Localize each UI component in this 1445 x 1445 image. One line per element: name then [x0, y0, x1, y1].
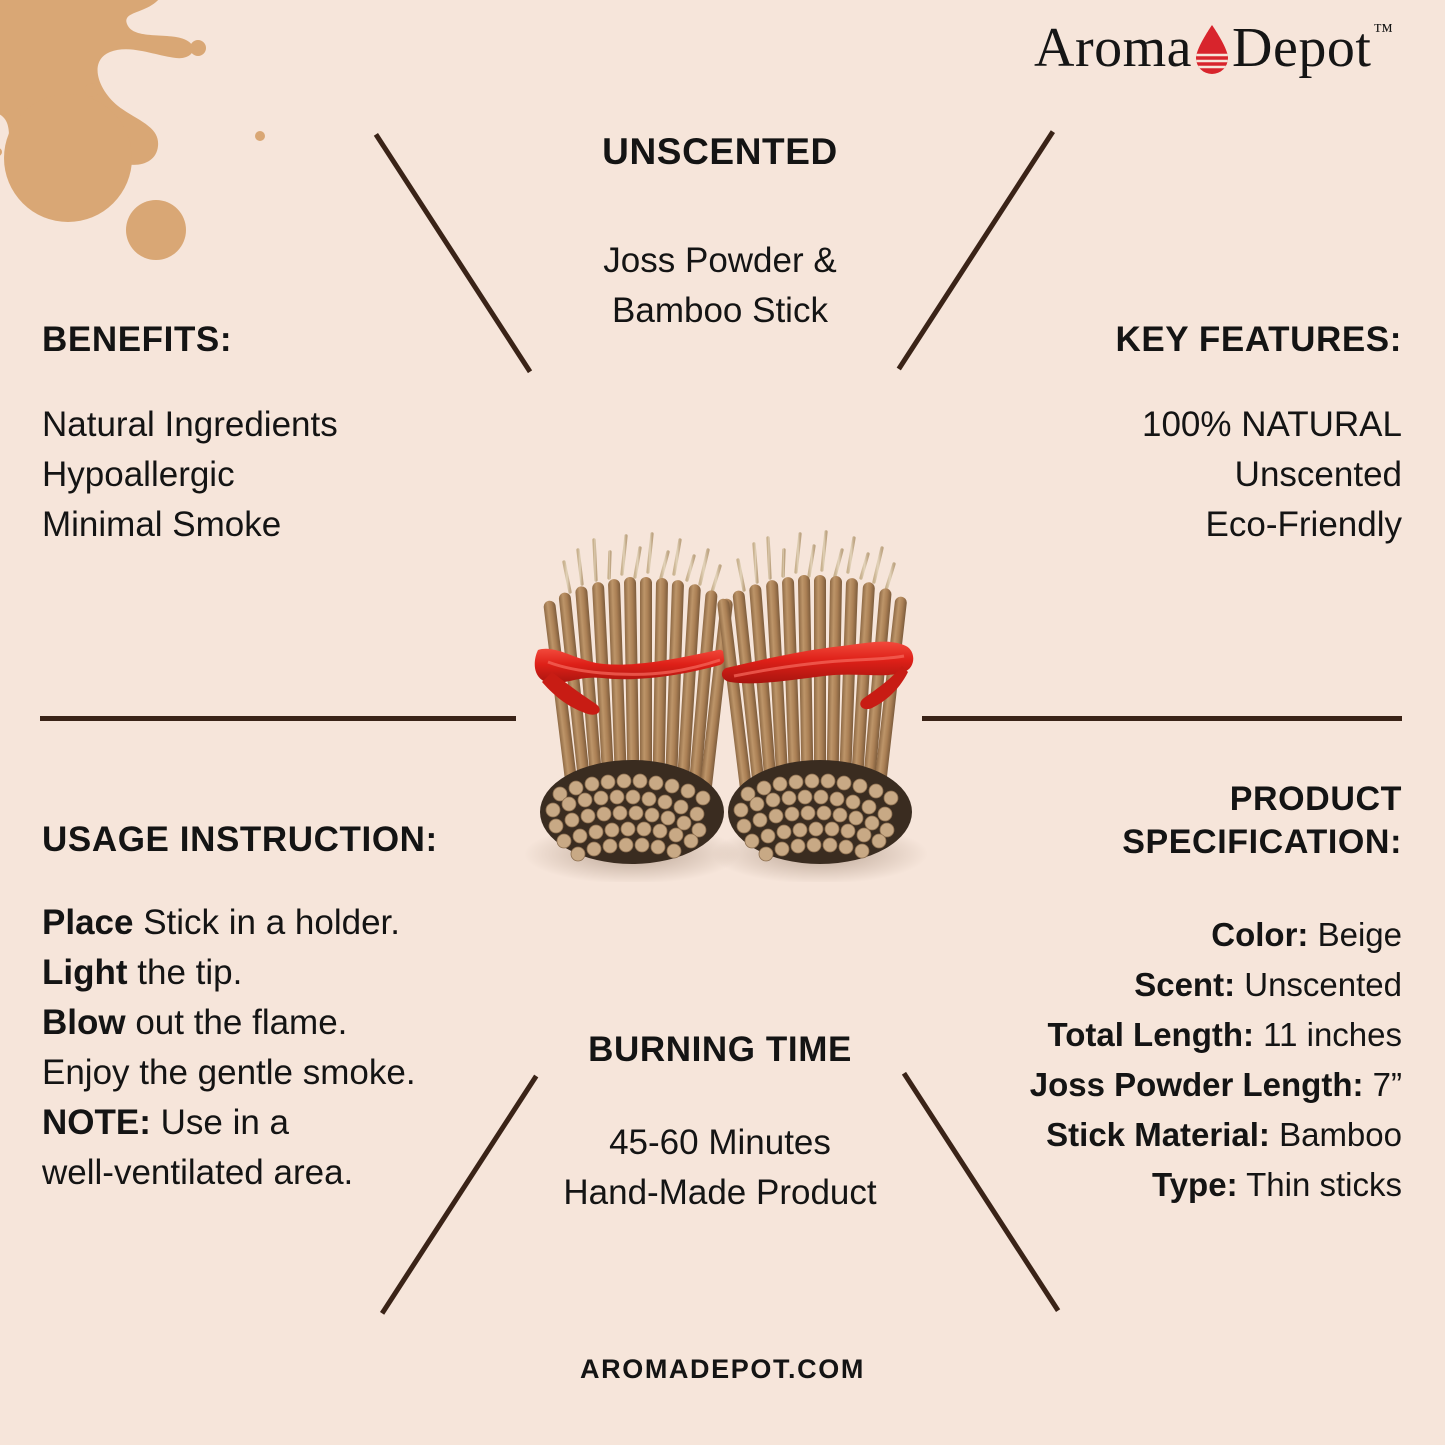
- incense-bundles-illustration: [512, 522, 940, 882]
- spec-row-color: Color: Beige: [910, 910, 1402, 960]
- burning-time-line-1: 45-60 Minutes: [470, 1118, 970, 1168]
- spec-row-type: Type: Thin sticks: [910, 1160, 1402, 1210]
- usage-heading: USAGE INSTRUCTION:: [42, 818, 542, 862]
- trademark-symbol: ™: [1373, 20, 1393, 42]
- usage-step-5: NOTE: Use in a: [42, 1098, 542, 1148]
- droplet-icon: [1194, 24, 1230, 76]
- usage-step-2: Light the tip.: [42, 948, 542, 998]
- spec-value-scent: Unscented: [1235, 966, 1402, 1003]
- burning-time-heading: BURNING TIME: [470, 1028, 970, 1072]
- product-specification-section: PRODUCT SPECIFICATION: Color: Beige Scen…: [910, 778, 1402, 1210]
- divider-right-horizontal: [922, 716, 1402, 721]
- key-features-heading: KEY FEATURES:: [930, 318, 1402, 362]
- spec-value-type: Thin sticks: [1238, 1166, 1402, 1203]
- usage-step-1: Place Stick in a holder.: [42, 898, 542, 948]
- key-features-section: KEY FEATURES: 100% NATURAL Unscented Eco…: [930, 318, 1402, 550]
- spec-value-stick-material: Bamboo: [1270, 1116, 1402, 1153]
- burning-time-line-2: Hand-Made Product: [470, 1168, 970, 1218]
- usage-step-5-rest: Use in a: [151, 1103, 289, 1142]
- usage-instruction-section: USAGE INSTRUCTION: Place Stick in a hold…: [42, 818, 542, 1198]
- infographic-page: Aroma Depot ™ UNSC: [0, 0, 1445, 1445]
- splatter-icon: [0, 0, 300, 280]
- divider-left-horizontal: [40, 716, 516, 721]
- spec-label-stick-material: Stick Material:: [1046, 1116, 1270, 1153]
- paint-splatter-decoration: [0, 0, 300, 280]
- product-photo-incense-bundles: [512, 522, 940, 882]
- incense-bundle-left: [535, 534, 734, 864]
- usage-step-1-lead: Place: [42, 903, 133, 942]
- product-spec-heading-line1: PRODUCT: [910, 778, 1402, 821]
- key-features-item-1: 100% NATURAL: [930, 400, 1402, 450]
- usage-step-3-rest: out the flame.: [126, 1003, 348, 1042]
- usage-step-4-rest: Enjoy the gentle smoke.: [42, 1053, 416, 1092]
- usage-step-3-lead: Blow: [42, 1003, 126, 1042]
- benefits-item-1: Natural Ingredients: [42, 400, 512, 450]
- spec-label-total-length: Total Length:: [1048, 1016, 1255, 1053]
- benefits-item-2: Hypoallergic: [42, 450, 512, 500]
- logo-word-aroma: Aroma: [1034, 16, 1192, 80]
- benefits-heading: BENEFITS:: [42, 318, 512, 362]
- key-features-item-3: Eco-Friendly: [930, 500, 1402, 550]
- spec-row-total-length: Total Length: 11 inches: [910, 1010, 1402, 1060]
- incense-bundle-right: [717, 532, 914, 864]
- usage-step-6: well-ventilated area.: [42, 1148, 542, 1198]
- usage-step-2-rest: the tip.: [128, 953, 243, 992]
- logo-word-depot: Depot: [1232, 16, 1371, 80]
- usage-step-3: Blow out the flame.: [42, 998, 542, 1048]
- usage-step-2-lead: Light: [42, 953, 128, 992]
- footer-website-url: AROMADEPOT.COM: [0, 1354, 1445, 1385]
- unscented-section: UNSCENTED Joss Powder & Bamboo Stick: [470, 130, 970, 336]
- spec-value-total-length: 11 inches: [1254, 1016, 1402, 1053]
- usage-step-5-lead: NOTE:: [42, 1103, 151, 1142]
- product-spec-heading-line2: SPECIFICATION:: [910, 821, 1402, 864]
- key-features-item-2: Unscented: [930, 450, 1402, 500]
- stick-cut-ends-right: [728, 760, 912, 864]
- benefits-section: BENEFITS: Natural Ingredients Hypoallerg…: [42, 318, 512, 550]
- brand-logo: Aroma Depot ™: [1034, 16, 1393, 86]
- benefits-item-3: Minimal Smoke: [42, 500, 512, 550]
- spec-label-joss-powder-length: Joss Powder Length:: [1030, 1066, 1364, 1103]
- spec-row-scent: Scent: Unscented: [910, 960, 1402, 1010]
- stick-cut-ends-left: [540, 760, 724, 864]
- spec-value-joss-powder-length: 7”: [1363, 1066, 1402, 1103]
- spec-label-scent: Scent:: [1134, 966, 1235, 1003]
- spec-row-joss-powder-length: Joss Powder Length: 7”: [910, 1060, 1402, 1110]
- spec-value-color: Beige: [1308, 916, 1402, 953]
- unscented-heading: UNSCENTED: [470, 130, 970, 174]
- usage-step-1-rest: Stick in a holder.: [133, 903, 400, 942]
- usage-step-4: Enjoy the gentle smoke.: [42, 1048, 542, 1098]
- burning-time-section: BURNING TIME 45-60 Minutes Hand-Made Pro…: [470, 1028, 970, 1218]
- usage-step-6-rest: well-ventilated area.: [42, 1153, 353, 1192]
- unscented-line-2: Bamboo Stick: [470, 286, 970, 336]
- spec-row-stick-material: Stick Material: Bamboo: [910, 1110, 1402, 1160]
- unscented-line-1: Joss Powder &: [470, 236, 970, 286]
- spec-label-color: Color:: [1211, 916, 1308, 953]
- spec-label-type: Type:: [1152, 1166, 1238, 1203]
